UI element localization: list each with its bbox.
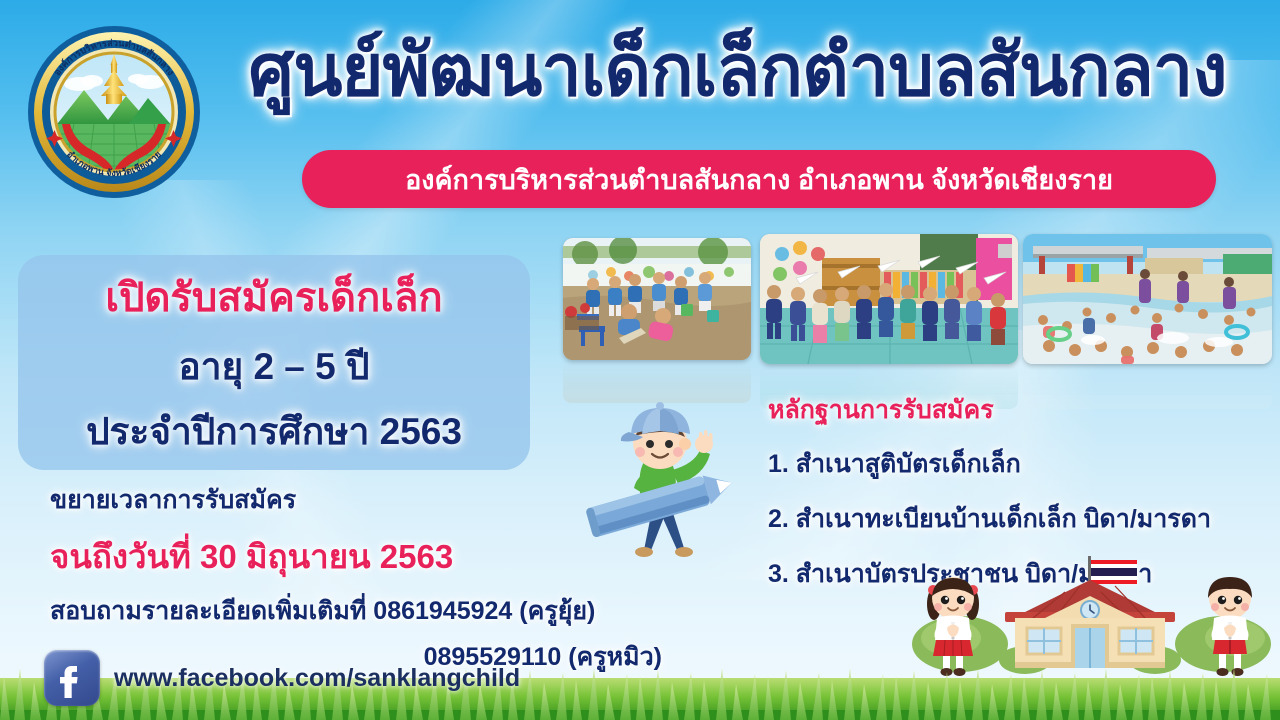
extension-line-1: ขยายเวลาการรับสมัคร <box>50 480 700 520</box>
photo-classroom-paper-planes <box>760 234 1018 364</box>
page-title: ศูนย์พัฒนาเด็กเล็กตำบลสันกลาง <box>205 34 1270 110</box>
poster-root: องค์การบริหารส่วนตำบลสันกลาง อำเภอพาน จั… <box>0 0 1280 720</box>
announcement-panel: เปิดรับสมัครเด็กเล็ก อายุ 2 – 5 ปี ประจำ… <box>18 255 530 470</box>
document-item: 2. สำเนาทะเบียนบ้านเด็กเล็ก บิดา/มารดา <box>768 499 1268 539</box>
photo-sandbox-play <box>563 238 751 360</box>
subtitle-banner: องค์การบริหารส่วนตำบลสันกลาง อำเภอพาน จั… <box>302 150 1216 208</box>
organization-seal-logo: องค์การบริหารส่วนตำบลสันกลาง อำเภอพาน จั… <box>26 24 202 200</box>
facebook-icon[interactable] <box>44 650 100 706</box>
announcement-line-3: ประจำปีการศึกษา 2563 <box>86 402 462 461</box>
announcement-line-2: อายุ 2 – 5 ปี <box>178 337 369 396</box>
subtitle-text: องค์การบริหารส่วนตำบลสันกลาง อำเภอพาน จั… <box>405 158 1113 201</box>
photo-wading-pool <box>1023 234 1272 364</box>
contact-line-1: สอบถามรายละเอียดเพิ่มเติมที่ 0861945924 … <box>50 591 700 631</box>
document-item: 1. สำเนาสูติบัตรเด็กเล็ก <box>768 444 1268 484</box>
extension-deadline: จนถึงวันที่ 30 มิถุนายน 2563 <box>50 530 700 583</box>
announcement-line-1: เปิดรับสมัครเด็กเล็ก <box>105 265 442 329</box>
documents-title: หลักฐานการรับสมัคร <box>768 390 1268 430</box>
facebook-row[interactable]: www.facebook.com/sanklangchild <box>44 650 520 706</box>
facebook-url[interactable]: www.facebook.com/sanklangchild <box>114 664 520 693</box>
